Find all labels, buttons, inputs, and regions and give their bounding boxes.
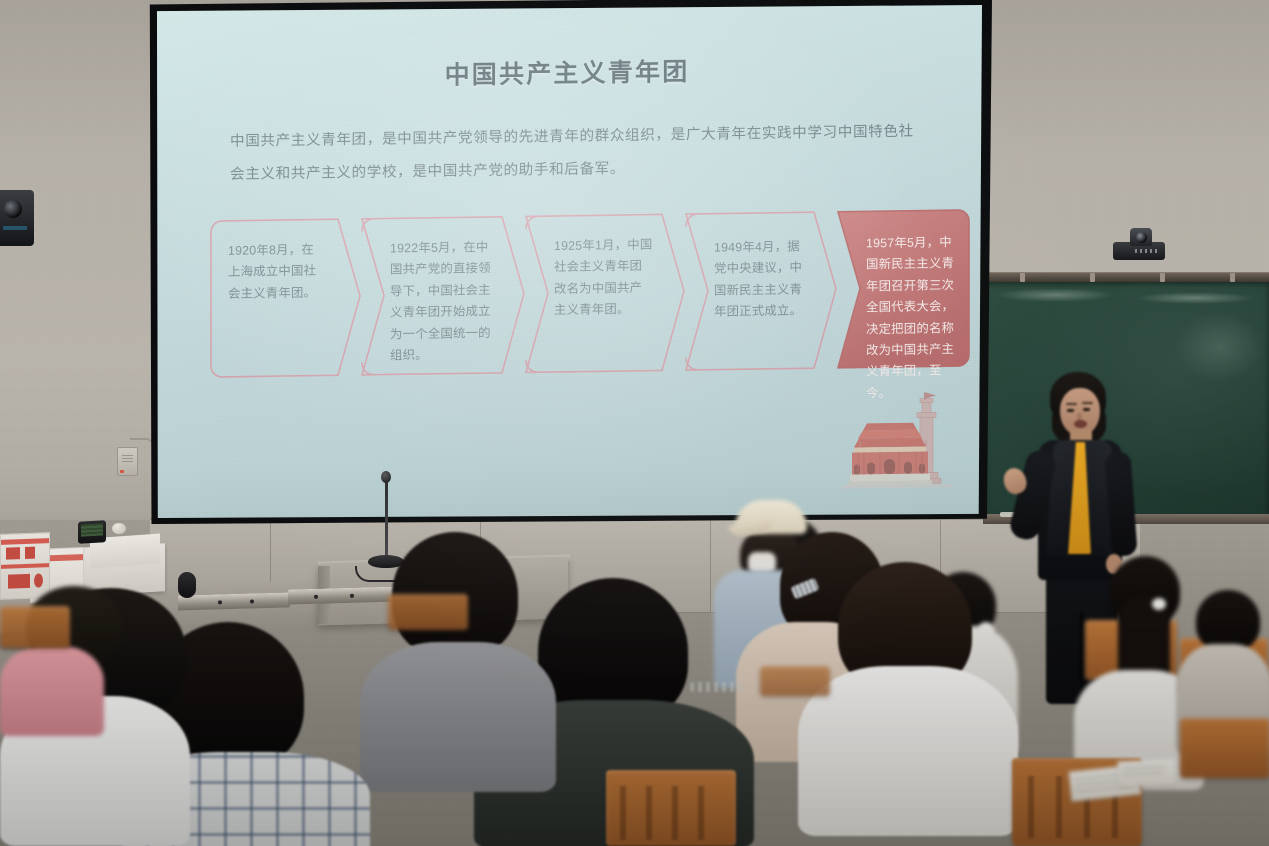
board-clip [1230,273,1235,282]
projection-screen: 中国共产主义青年团 中国共产主义青年团，是中国共产党领导的先进青年的群众组织，是… [152,5,982,518]
student-notebook [1117,759,1176,788]
chair [760,666,830,696]
audience [0,470,1269,846]
ptz-camera-right-icon [1113,228,1165,260]
student-collar-text [690,682,746,692]
ptz-camera-left-icon [0,190,34,246]
chair [606,770,736,846]
board-clip [1020,273,1025,282]
board-clip [1160,273,1165,282]
student-white-coat [798,666,1018,836]
chair [388,594,468,630]
screenshot-root: 中国共产主义青年团 中国共产主义青年团，是中国共产党领导的先进青年的群众组织，是… [0,0,1269,846]
chair [0,606,70,648]
student-body-grey [360,642,556,792]
board-clip [1090,273,1095,282]
student-head [1196,590,1260,652]
student-pink-top [0,646,104,736]
chair [1180,718,1269,778]
